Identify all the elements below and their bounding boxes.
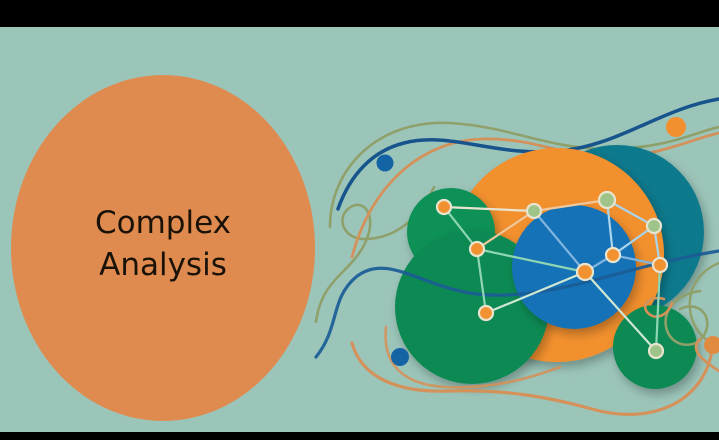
page-title-line2: Analysis <box>99 247 227 283</box>
orange-dot-top-right <box>666 117 686 137</box>
network-node-n6 <box>606 248 620 262</box>
network-node-n10 <box>649 344 663 358</box>
slide-stage: Complex Analysis <box>0 0 719 440</box>
network-node-n2 <box>527 204 541 218</box>
blue-center-circle <box>512 205 636 329</box>
decorative-artwork: Complex Analysis <box>0 27 719 432</box>
network-node-n3 <box>599 192 615 208</box>
network-node-n7 <box>577 264 593 280</box>
slide-canvas: Complex Analysis <box>0 27 719 432</box>
network-node-n5 <box>647 219 661 233</box>
network-node-n4 <box>470 242 484 256</box>
network-node-n8 <box>653 258 667 272</box>
page-title-line1: Complex <box>95 205 231 241</box>
network-node-n9 <box>479 306 493 320</box>
letterbox-bar-bottom <box>0 432 719 440</box>
network-node-n1 <box>437 200 451 214</box>
blue-dot-lower-left <box>391 348 409 366</box>
letterbox-bar-top <box>0 0 719 27</box>
blue-dot-upper-left <box>377 155 394 172</box>
